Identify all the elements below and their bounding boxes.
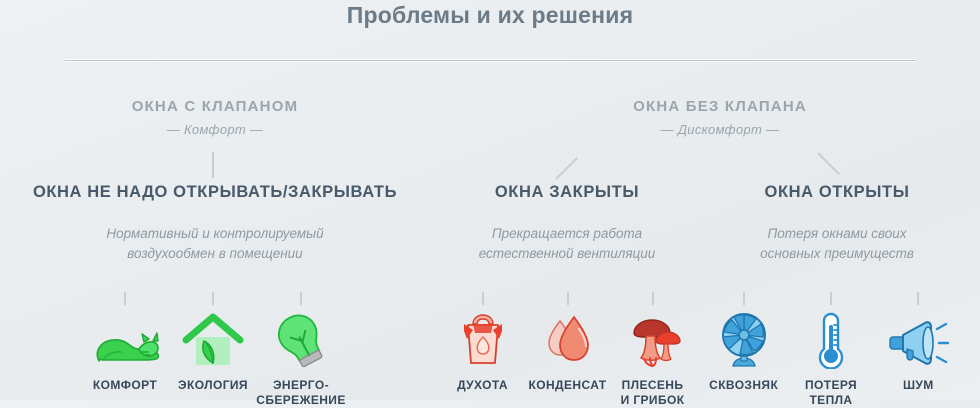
list-item[interactable]: ПЛЕСЕНЬ И ГРИБОК [610,292,695,408]
group-header-with-valve: ОКНА С КЛАПАНОМ — Комфорт — [60,98,370,137]
connector-tick [482,292,484,305]
column-heading: ОКНА ЗАКРЫТЫ [447,183,687,202]
list-item[interactable]: ЭНЕРГО- СБЕРЕЖЕНИЕ [257,292,345,408]
header-divider [65,59,915,62]
list-item[interactable]: ПОТЕРЯ ТЕПЛА [787,292,874,408]
item-label: ДУХОТА [457,378,508,393]
house-leaf-icon [182,311,244,369]
column-heading: ОКНА НЕ НАДО ОТКРЫВАТЬ/ЗАКРЫВАТЬ [5,183,425,202]
column-description: Нормативный и контролируемый воздухообме… [5,224,425,263]
connector-tick [212,292,214,305]
connector-tick [652,292,654,305]
connector-tick [300,292,302,305]
thermometer-icon [814,311,848,369]
item-label: ЭКОЛОГИЯ [178,378,248,393]
sleeping-cat-icon [89,311,161,369]
group-title: ОКНА БЕЗ КЛАПАНА [565,98,875,115]
connector-tick [830,292,832,305]
icon-row-closed-problems: ДУХОТА КОНДЕНСАТ [440,292,695,408]
lantern-icon [454,311,512,369]
column-description: Прекращается работа естественной вентиля… [447,224,687,263]
icon-row-open-problems: СКВОЗНЯК ПОТЕРЯ ТЕПЛА [700,292,962,408]
group-header-without-valve: ОКНА БЕЗ КЛАПАНА — Дискомфорт — [565,98,875,137]
connector-tick [124,292,126,305]
item-label: ЭНЕРГО- СБЕРЕЖЕНИЕ [256,378,345,408]
infographic-canvas: Проблемы и их решения ОКНА С КЛАПАНОМ — … [0,0,980,400]
column-no-need-to-open: ОКНА НЕ НАДО ОТКРЫВАТЬ/ЗАКРЫВАТЬ Нормати… [5,183,425,263]
group-subtitle: — Дискомфорт — [565,122,875,137]
list-item[interactable]: КОМФОРТ [81,292,169,408]
column-windows-closed: ОКНА ЗАКРЫТЫ Прекращается работа естеств… [447,183,687,263]
mushroom-mold-icon [622,311,684,369]
connector-tick [743,292,745,305]
list-item[interactable]: ШУМ [875,292,962,408]
group-subtitle: — Комфорт — [60,122,370,137]
column-heading: ОКНА ОТКРЫТЫ [712,183,962,202]
page-title: Проблемы и их решения [0,2,980,29]
list-item[interactable]: СКВОЗНЯК [700,292,787,408]
list-item[interactable]: ЭКОЛОГИЯ [169,292,257,408]
megaphone-icon [887,311,949,369]
icon-row-benefits: КОМФОРТ ЭКОЛОГИЯ [48,292,378,408]
group-title: ОКНА С КЛАПАНОМ [60,98,370,115]
list-item[interactable]: КОНДЕНСАТ [525,292,610,408]
item-label: ШУМ [903,378,934,393]
item-label: КОМФОРТ [93,378,157,393]
column-windows-open: ОКНА ОТКРЫТЫ Потеря окнами своих основны… [712,183,962,263]
water-drop-icon [541,311,595,369]
light-bulb-icon [271,311,331,369]
list-item[interactable]: ДУХОТА [440,292,525,408]
connector-diagonal-closed [555,157,578,180]
item-label: ПЛЕСЕНЬ И ГРИБОК [621,378,685,408]
connector-vertical-valve [212,152,214,178]
item-label: ПОТЕРЯ ТЕПЛА [805,378,857,408]
column-description: Потеря окнами своих основных преимуществ [712,224,962,263]
connector-tick [917,292,919,305]
item-label: СКВОЗНЯК [709,378,778,393]
connector-tick [567,292,569,305]
connector-diagonal-open [817,152,840,175]
fan-icon [715,311,773,369]
item-label: КОНДЕНСАТ [529,378,607,393]
